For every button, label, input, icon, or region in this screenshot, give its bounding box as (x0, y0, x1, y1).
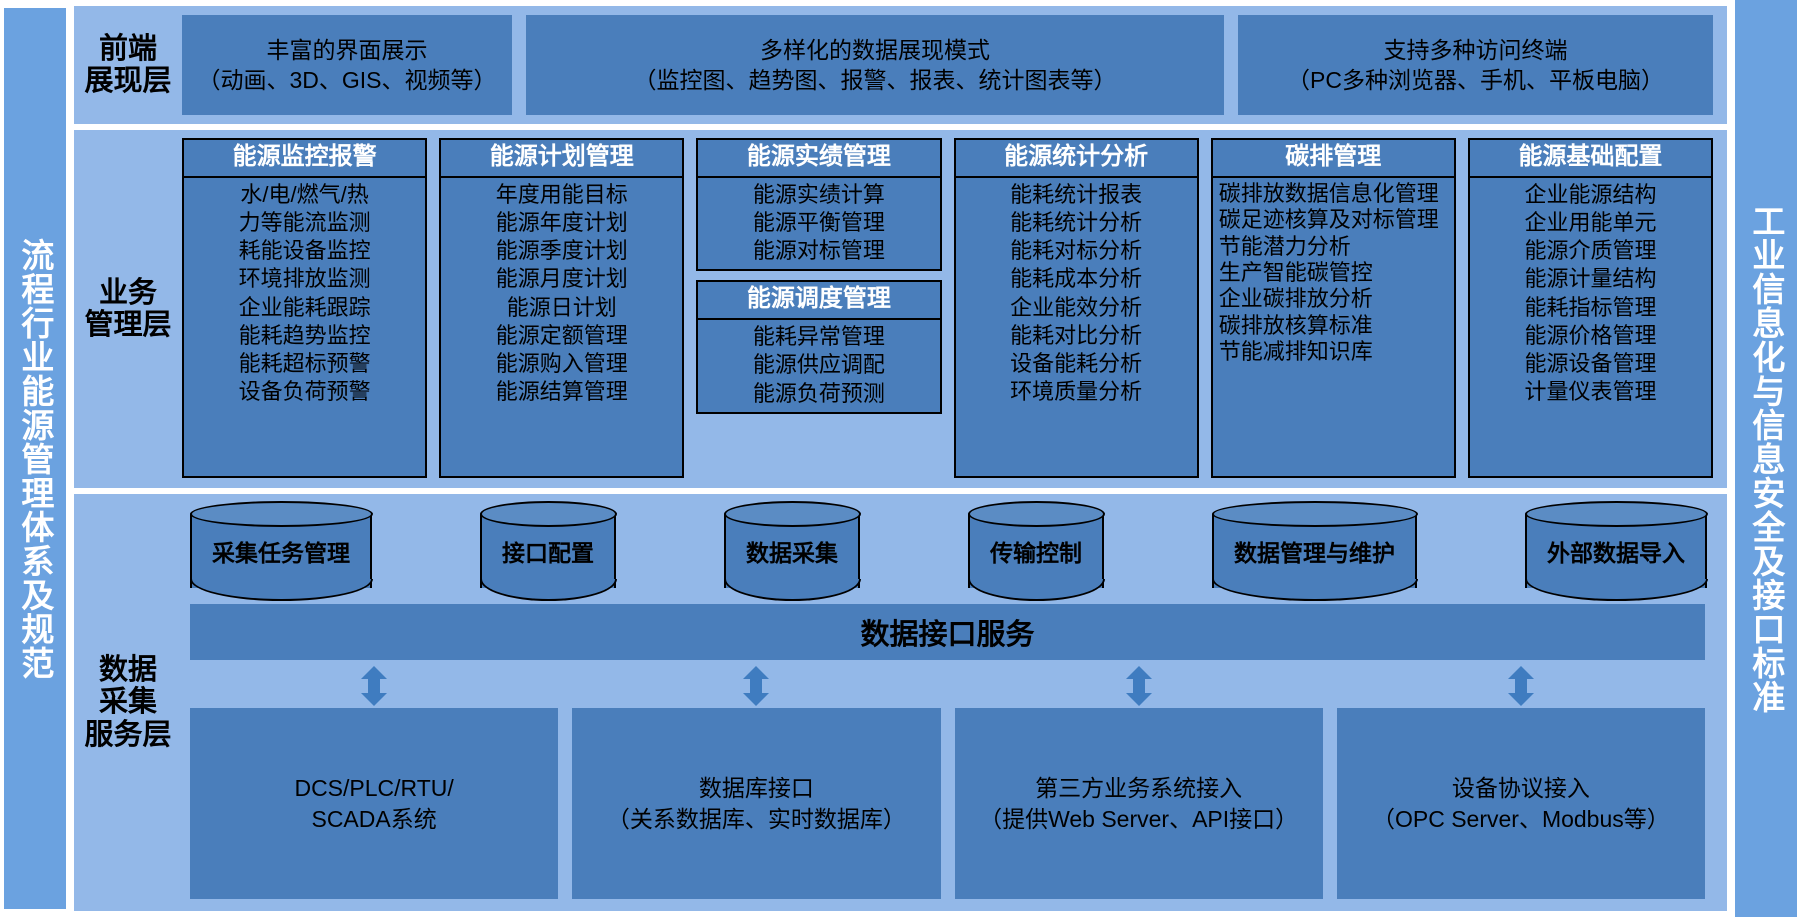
biz-item[interactable]: 能耗超标预警 (239, 350, 371, 378)
biz-item[interactable]: 年度用能目标 (496, 181, 628, 209)
frontend-card-1-line1: 丰富的界面展示 (197, 35, 496, 65)
cylinder-external-data-import[interactable]: 外部数据导入 (1525, 514, 1707, 588)
source-card-database-interface[interactable]: 数据库接口 （关系数据库、实时数据库） (572, 708, 940, 899)
double-arrow-icon (1126, 666, 1152, 706)
cylinder-transmission-control[interactable]: 传输控制 (968, 514, 1104, 588)
biz-card-carbon-emission-management[interactable]: 碳排管理 碳排放数据信息化管理 碳足迹核算及对标管理 节能潜力分析 生产智能碳管… (1211, 138, 1456, 478)
layers-stack: 前端 展现层 丰富的界面展示 （动画、3D、GIS、视频等） 多样化的数据展现模… (66, 0, 1735, 917)
biz-item[interactable]: 能源日计划 (507, 294, 617, 322)
biz-item[interactable]: 能源实绩计算 (753, 181, 885, 209)
double-arrow-icon (361, 666, 387, 706)
biz-item[interactable]: 碳排放核算标准 (1219, 313, 1448, 339)
biz-card-header: 能源实绩管理 (698, 140, 939, 178)
cylinder-top-ellipse (724, 501, 861, 527)
biz-card-header: 能源监控报警 (184, 140, 425, 178)
layer-frontend-body: 丰富的界面展示 （动画、3D、GIS、视频等） 多样化的数据展现模式 （监控图、… (182, 6, 1727, 124)
biz-item[interactable]: 力等能流监测 (239, 209, 371, 237)
frontend-card-3-line2: （PC多种浏览器、手机、平板电脑） (1287, 65, 1664, 95)
business-column-monitoring: 能源监控报警 水/电/燃气/热 力等能流监测 耗能设备监控 环境排放监测 企业能… (182, 138, 427, 478)
biz-card-header: 能源基础配置 (1470, 140, 1711, 178)
biz-item[interactable]: 能源月度计划 (496, 265, 628, 293)
biz-item[interactable]: 节能减排知识库 (1219, 339, 1448, 365)
biz-item[interactable]: 能源计量结构 (1524, 265, 1656, 293)
cylinder-bottom-ellipse (190, 579, 373, 601)
layer-business-title-line2: 管理层 (84, 309, 171, 341)
biz-card-energy-dispatch-management[interactable]: 能源调度管理 能耗异常管理 能源供应调配 能源负荷预测 (696, 280, 941, 413)
source-card-4-line1: 设备协议接入 (1372, 773, 1670, 804)
cylinder-bottom-ellipse (1212, 579, 1418, 601)
biz-item[interactable]: 能源购入管理 (496, 350, 628, 378)
frontend-card-3-line1: 支持多种访问终端 (1287, 35, 1664, 65)
biz-card-items: 能源实绩计算 能源平衡管理 能源对标管理 (698, 178, 939, 269)
layer-frontend-title: 前端 展现层 (74, 6, 182, 124)
biz-item[interactable]: 能源价格管理 (1524, 322, 1656, 350)
layer-business-title-line1: 业务 (84, 277, 171, 309)
layer-data-acquisition: 数据 采集 服务层 采集任务管理 接口配置 (74, 494, 1727, 911)
cylinder-top-ellipse (480, 501, 617, 527)
frontend-card-data-presentation[interactable]: 多样化的数据展现模式 （监控图、趋势图、报警、报表、统计图表等） (526, 15, 1224, 115)
biz-card-header: 能源调度管理 (698, 282, 939, 320)
cylinder-label: 数据采集 (746, 534, 838, 568)
biz-item[interactable]: 能耗统计报表 (1010, 181, 1142, 209)
biz-item[interactable]: 环境排放监测 (239, 265, 371, 293)
source-card-device-protocol[interactable]: 设备协议接入 （OPC Server、Modbus等） (1337, 708, 1705, 899)
biz-card-items: 能耗异常管理 能源供应调配 能源负荷预测 (698, 320, 939, 411)
layer-data-title: 数据 采集 服务层 (74, 494, 182, 911)
source-card-third-party-systems[interactable]: 第三方业务系统接入 （提供Web Server、API接口） (955, 708, 1323, 899)
biz-item[interactable]: 节能潜力分析 (1219, 234, 1448, 260)
arrow-row (182, 660, 1713, 708)
biz-item[interactable]: 能耗异常管理 (753, 323, 885, 351)
source-card-2-line1: 数据库接口 (607, 773, 906, 804)
business-column-carbon: 碳排管理 碳排放数据信息化管理 碳足迹核算及对标管理 节能潜力分析 生产智能碳管… (1211, 138, 1456, 478)
biz-item[interactable]: 企业能效分析 (1010, 294, 1142, 322)
biz-item[interactable]: 能源季度计划 (496, 237, 628, 265)
source-card-1-line2: SCADA系统 (294, 804, 453, 835)
cylinder-label: 数据管理与维护 (1234, 534, 1395, 568)
biz-card-items: 碳排放数据信息化管理 碳足迹核算及对标管理 节能潜力分析 生产智能碳管控 企业碳… (1213, 178, 1454, 476)
right-banner-label: 工业信息化与信息安全及接口标准 (1749, 204, 1783, 714)
arrow-cell-4 (1337, 664, 1705, 708)
source-card-1-line1: DCS/PLC/RTU/ (294, 773, 453, 804)
biz-item[interactable]: 能耗统计分析 (1010, 209, 1142, 237)
biz-item[interactable]: 能耗对比分析 (1010, 322, 1142, 350)
biz-item[interactable]: 生产智能碳管控 (1219, 260, 1448, 286)
arrow-cell-1 (190, 664, 558, 708)
layer-frontend-title-line1: 前端 (84, 33, 171, 65)
biz-card-energy-plan-management[interactable]: 能源计划管理 年度用能目标 能源年度计划 能源季度计划 能源月度计划 能源日计划… (439, 138, 684, 478)
cylinder-bottom-ellipse (1525, 579, 1708, 601)
cylinder-data-management-maintenance[interactable]: 数据管理与维护 (1212, 514, 1417, 588)
biz-card-energy-performance-management[interactable]: 能源实绩管理 能源实绩计算 能源平衡管理 能源对标管理 (696, 138, 941, 271)
cylinder-label: 外部数据导入 (1547, 534, 1685, 568)
biz-item[interactable]: 计量仪表管理 (1524, 378, 1656, 406)
layer-data-body: 采集任务管理 接口配置 数据采集 传输控 (182, 494, 1727, 911)
biz-item[interactable]: 能源平衡管理 (753, 209, 885, 237)
biz-item[interactable]: 设备负荷预警 (239, 378, 371, 406)
layer-data-title-line3: 服务层 (84, 719, 171, 751)
biz-item[interactable]: 能耗对标分析 (1010, 237, 1142, 265)
biz-card-items: 企业能源结构 企业用能单元 能源介质管理 能源计量结构 能耗指标管理 能源价格管… (1470, 178, 1711, 476)
layer-business-title: 业务 管理层 (74, 130, 182, 488)
cylinder-bottom-ellipse (724, 579, 861, 601)
arrow-cell-3 (955, 664, 1323, 708)
business-column-performance-dispatch: 能源实绩管理 能源实绩计算 能源平衡管理 能源对标管理 能源调度管理 能耗异常管… (696, 138, 941, 478)
source-card-2-line2: （关系数据库、实时数据库） (607, 804, 906, 835)
data-source-row: DCS/PLC/RTU/ SCADA系统 数据库接口 （关系数据库、实时数据库）… (182, 708, 1713, 901)
data-interface-service-bar[interactable]: 数据接口服务 (190, 604, 1705, 660)
frontend-card-terminals[interactable]: 支持多种访问终端 （PC多种浏览器、手机、平板电脑） (1238, 15, 1713, 115)
layer-business-body: 能源监控报警 水/电/燃气/热 力等能流监测 耗能设备监控 环境排放监测 企业能… (182, 130, 1727, 488)
biz-item[interactable]: 能耗成本分析 (1010, 265, 1142, 293)
double-arrow-icon (743, 666, 769, 706)
biz-item[interactable]: 能源结算管理 (496, 378, 628, 406)
source-card-4-line2: （OPC Server、Modbus等） (1372, 804, 1670, 835)
biz-item[interactable]: 企业碳排放分析 (1219, 286, 1448, 312)
layer-data-title-line1: 数据 (84, 654, 171, 686)
cylinder-row: 采集任务管理 接口配置 数据采集 传输控 (182, 504, 1713, 588)
architecture-diagram: 流程行业能源管理体系及规范 前端 展现层 丰富的界面展示 （动画、3D、GIS、… (0, 0, 1801, 917)
cylinder-top-ellipse (1525, 501, 1708, 527)
cylinder-bottom-ellipse (480, 579, 617, 601)
source-card-3-line1: 第三方业务系统接入 (979, 773, 1298, 804)
biz-card-energy-statistical-analysis[interactable]: 能源统计分析 能耗统计报表 能耗统计分析 能耗对标分析 能耗成本分析 企业能效分… (954, 138, 1199, 478)
layer-business: 业务 管理层 能源监控报警 水/电/燃气/热 力等能流监测 耗能设备监控 环境排… (74, 130, 1727, 488)
source-card-dcs-plc-rtu-scada[interactable]: DCS/PLC/RTU/ SCADA系统 (190, 708, 558, 899)
cylinder-top-ellipse (968, 501, 1105, 527)
biz-item[interactable]: 能源定额管理 (496, 322, 628, 350)
layer-frontend: 前端 展现层 丰富的界面展示 （动画、3D、GIS、视频等） 多样化的数据展现模… (74, 6, 1727, 124)
biz-item[interactable]: 企业能耗跟踪 (239, 294, 371, 322)
double-arrow-icon (1508, 666, 1534, 706)
cylinder-label: 传输控制 (990, 534, 1082, 568)
right-vertical-banner: 工业信息化与信息安全及接口标准 (1735, 0, 1797, 917)
frontend-card-2-line1: 多样化的数据展现模式 (634, 35, 1117, 65)
frontend-card-ui-display[interactable]: 丰富的界面展示 （动画、3D、GIS、视频等） (182, 15, 512, 115)
biz-card-items: 能耗统计报表 能耗统计分析 能耗对标分析 能耗成本分析 企业能效分析 能耗对比分… (956, 178, 1197, 476)
biz-item[interactable]: 能源年度计划 (496, 209, 628, 237)
business-column-statistics: 能源统计分析 能耗统计报表 能耗统计分析 能耗对标分析 能耗成本分析 企业能效分… (954, 138, 1199, 478)
biz-item[interactable]: 企业能源结构 (1524, 181, 1656, 209)
left-banner-label: 流程行业能源管理体系及规范 (18, 238, 52, 680)
frontend-card-1-line2: （动画、3D、GIS、视频等） (197, 65, 496, 95)
cylinder-interface-configuration[interactable]: 接口配置 (480, 514, 616, 588)
biz-item[interactable]: 企业用能单元 (1524, 209, 1656, 237)
biz-card-energy-basic-configuration[interactable]: 能源基础配置 企业能源结构 企业用能单元 能源介质管理 能源计量结构 能耗指标管… (1468, 138, 1713, 478)
biz-item[interactable]: 水/电/燃气/热 (240, 181, 368, 209)
biz-card-energy-monitoring-alarm[interactable]: 能源监控报警 水/电/燃气/热 力等能流监测 耗能设备监控 环境排放监测 企业能… (182, 138, 427, 478)
business-column-basic-config: 能源基础配置 企业能源结构 企业用能单元 能源介质管理 能源计量结构 能耗指标管… (1468, 138, 1713, 478)
biz-card-header: 能源统计分析 (956, 140, 1197, 178)
biz-item[interactable]: 能源对标管理 (753, 237, 885, 265)
cylinder-collection-task-management[interactable]: 采集任务管理 (190, 514, 372, 588)
data-interface-service-label: 数据接口服务 (860, 611, 1034, 653)
cylinder-label: 采集任务管理 (212, 534, 350, 568)
biz-item[interactable]: 能耗趋势监控 (239, 322, 371, 350)
biz-item[interactable]: 碳足迹核算及对标管理 (1219, 207, 1448, 233)
source-card-3-line2: （提供Web Server、API接口） (979, 804, 1298, 835)
biz-card-items: 年度用能目标 能源年度计划 能源季度计划 能源月度计划 能源日计划 能源定额管理… (441, 178, 682, 476)
biz-card-header: 碳排管理 (1213, 140, 1454, 178)
biz-item[interactable]: 能源供应调配 (753, 351, 885, 379)
biz-card-items: 水/电/燃气/热 力等能流监测 耗能设备监控 环境排放监测 企业能耗跟踪 能耗趋… (184, 178, 425, 476)
cylinder-top-ellipse (1212, 501, 1418, 527)
frontend-card-2-line2: （监控图、趋势图、报警、报表、统计图表等） (634, 65, 1117, 95)
biz-item[interactable]: 能源介质管理 (1524, 237, 1656, 265)
layer-frontend-title-line2: 展现层 (84, 65, 171, 97)
cylinder-top-ellipse (190, 501, 373, 527)
arrow-cell-2 (572, 664, 940, 708)
cylinder-data-collection[interactable]: 数据采集 (724, 514, 860, 588)
left-vertical-banner: 流程行业能源管理体系及规范 (4, 8, 66, 909)
cylinder-bottom-ellipse (968, 579, 1105, 601)
biz-card-header: 能源计划管理 (441, 140, 682, 178)
biz-item[interactable]: 耗能设备监控 (239, 237, 371, 265)
business-column-planning: 能源计划管理 年度用能目标 能源年度计划 能源季度计划 能源月度计划 能源日计划… (439, 138, 684, 478)
biz-item[interactable]: 碳排放数据信息化管理 (1219, 181, 1448, 207)
layer-data-title-line2: 采集 (84, 686, 171, 718)
cylinder-label: 接口配置 (502, 534, 594, 568)
biz-item[interactable]: 环境质量分析 (1010, 378, 1142, 406)
biz-item[interactable]: 能源负荷预测 (753, 380, 885, 408)
biz-item[interactable]: 能源设备管理 (1524, 350, 1656, 378)
biz-item[interactable]: 能耗指标管理 (1524, 294, 1656, 322)
biz-item[interactable]: 设备能耗分析 (1010, 350, 1142, 378)
